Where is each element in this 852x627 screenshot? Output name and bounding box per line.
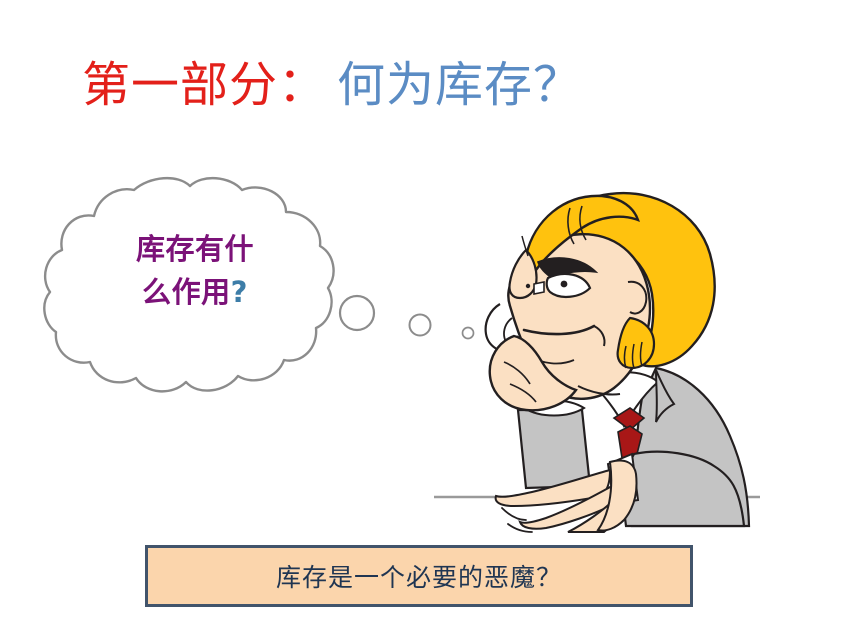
pupil — [561, 281, 568, 288]
caption-box: 库存是一个必要的恶魔？ — [145, 545, 693, 607]
slide-canvas: 第一部分：何为库存？ 库存有什 么作用? — [0, 0, 852, 627]
nostril — [526, 284, 530, 288]
suit-sleeve-left — [518, 410, 590, 488]
thought-bubble: 库存有什 么作用? — [38, 172, 338, 408]
thought-bubble-line-1: 库存有什 — [100, 228, 290, 271]
nose-highlight — [534, 282, 544, 294]
page-title: 第一部分：何为库存？ — [82, 56, 582, 114]
thought-bubble-text: 库存有什 么作用? — [100, 228, 290, 314]
title-section-label: 第一部分： — [82, 57, 327, 113]
nose — [509, 250, 536, 298]
businessman-thinking-figure — [418, 186, 768, 536]
motion-mark-1 — [502, 508, 526, 520]
thought-bubble-question-mark: ? — [231, 275, 248, 309]
title-question: 何为库存？ — [337, 57, 582, 113]
cartoon-character-illustration — [418, 186, 768, 536]
thought-bubble-line-2: 么作用 — [142, 275, 231, 309]
thought-bubble-line-2-wrap: 么作用? — [100, 271, 290, 314]
thought-trail-bubble-large — [340, 296, 374, 330]
caption-text: 库存是一个必要的恶魔？ — [276, 558, 562, 594]
